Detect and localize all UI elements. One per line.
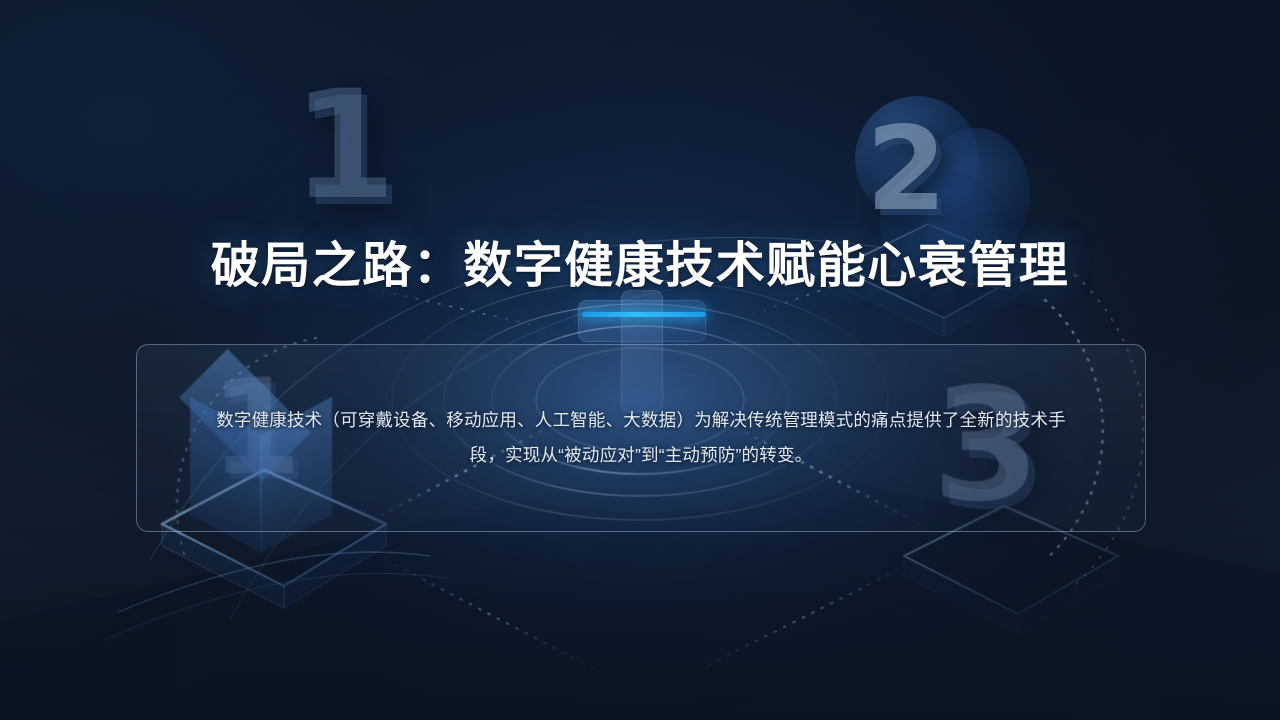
slide-body-text: 数字健康技术（可穿戴设备、移动应用、人工智能、大数据）为解决传统管理模式的痛点提… xyxy=(215,403,1067,473)
slide-title: 破局之路：数字健康技术赋能心衰管理 xyxy=(0,226,1280,297)
slide-body-panel: 数字健康技术（可穿戴设备、移动应用、人工智能、大数据）为解决传统管理模式的痛点提… xyxy=(136,344,1146,532)
cross-accent-line xyxy=(582,312,706,317)
numeral-two-icon: 2 xyxy=(866,120,947,220)
numeral-one-icon: 1 xyxy=(292,82,396,211)
slide-canvas: 1 2 3 1 破局之路：数字健康技术赋能心衰管理 数字健康技术（可穿戴设备、移… xyxy=(0,0,1280,720)
